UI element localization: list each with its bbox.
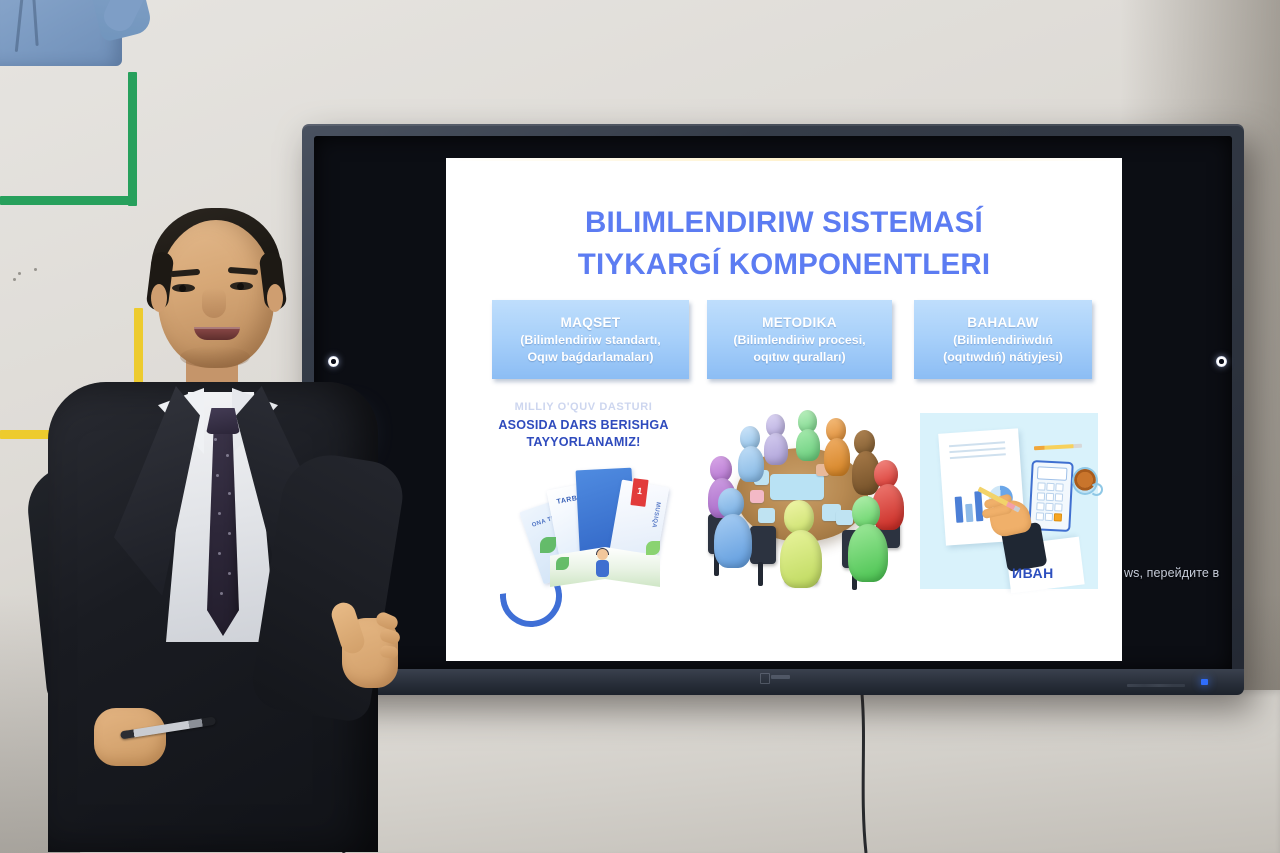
slide-title-line1: BILIMLENDIRIW SISTEMASÍ — [585, 206, 983, 239]
cup-handle — [1090, 483, 1103, 496]
calculator — [1028, 460, 1074, 532]
artwork-textbooks: MILLIY O'QUV DASTURI ASOSIDA DARS BERISH… — [476, 401, 691, 601]
nose — [202, 288, 226, 318]
artwork-overlay-text: ИВАН — [1012, 565, 1054, 581]
component-boxes: MAQSET (Bilimlendiriw standartı, Oqıw ba… — [492, 300, 1092, 382]
textbook-label: MUSIQA — [650, 501, 660, 528]
panel-brand-logo-icon — [760, 673, 790, 683]
leaf-decor — [556, 557, 569, 570]
box-line-2: oqıtıw quralları) — [753, 349, 845, 366]
slide-title: BILIMLENDIRIW SISTEMASÍ TIYKARGÍ KOMPONE… — [446, 202, 1122, 286]
eye-right — [230, 282, 253, 290]
artwork-caption-main: ASOSIDA DARS BERISHGA TAYYORLANAMIZ! — [476, 417, 691, 451]
presenter — [18, 196, 378, 853]
interactive-display[interactable]: BILIMLENDIRIW SISTEMASÍ TIYKARGÍ KOMPONE… — [302, 124, 1244, 694]
eye-left — [172, 284, 195, 292]
artwork-caption-line2: TAYYORLANAMIZ! — [526, 435, 640, 449]
bezel-port-strip — [1127, 684, 1185, 687]
box-line-1: (Bilimlendiriwdıń — [953, 332, 1053, 349]
chair-leg — [758, 562, 763, 586]
box-line-1: (Bilimlendiriw standartı, — [520, 332, 660, 349]
ear-right — [267, 284, 283, 312]
box-line-1: (Bilimlendiriw procesi, — [733, 332, 865, 349]
puzzle-piece — [750, 490, 764, 503]
box-line-2: (oqıtıwdıń) nátiyjesi) — [943, 349, 1063, 366]
power-led-icon — [1201, 679, 1208, 685]
leaf-decor — [646, 541, 660, 555]
calculator-screen — [1037, 466, 1068, 481]
box-heading: BAHALAW — [967, 314, 1039, 331]
box-heading: METODIKA — [762, 314, 837, 331]
textbook-stack: ONA TILI TARBIYA MUSIQA — [528, 463, 678, 587]
box-line-2: Oqıw baǵdarlamaları) — [527, 349, 653, 366]
slide-top-glow — [446, 158, 1122, 161]
chart-bar — [974, 491, 983, 521]
child-figure — [594, 549, 611, 579]
artwork-caption-pre: MILLIY O'QUV DASTURI — [476, 401, 691, 413]
mouth — [194, 327, 240, 340]
component-box-metodika[interactable]: METODIKA (Bilimlendiriw procesi, oqıtıw … — [707, 300, 892, 379]
chart-bar — [955, 496, 964, 522]
artwork-desk-analysis: ИВАН — [912, 405, 1106, 597]
paper-text-lines — [949, 441, 1005, 447]
presenter-right-hand — [336, 598, 410, 694]
display-screen-area[interactable]: BILIMLENDIRIW SISTEMASÍ TIYKARGÍ KOMPONE… — [314, 136, 1232, 672]
artwork-round-table-meeting — [692, 404, 908, 594]
chin-shadow — [180, 346, 250, 368]
leaf-decor — [540, 537, 556, 553]
presenter-left-hand — [88, 698, 180, 774]
puzzle-piece — [836, 510, 853, 525]
puzzle-piece — [770, 474, 824, 500]
chart-bar — [965, 504, 973, 522]
box-heading: MAQSET — [561, 314, 621, 331]
windows-activation-watermark: ws, перейдите в — [1124, 566, 1262, 581]
slide-title-line2: TIYKARGÍ KOMPONENTLERI — [446, 244, 1122, 286]
artwork-caption-line1: ASOSIDA DARS BERISHGA — [498, 418, 668, 432]
presentation-slide[interactable]: BILIMLENDIRIW SISTEMASÍ TIYKARGÍ KOMPONE… — [446, 158, 1122, 661]
wall-paint-green-vertical — [128, 72, 137, 206]
chair — [750, 526, 776, 564]
ir-sensor-right-icon — [1216, 356, 1227, 367]
photo-scene: BILIMLENDIRIW SISTEMASÍ TIYKARGÍ KOMPONE… — [0, 0, 1280, 853]
ear-left — [151, 284, 167, 312]
component-box-bahalaw[interactable]: BAHALAW (Bilimlendiriwdıń (oqıtıwdıń) ná… — [914, 300, 1092, 379]
puzzle-piece — [758, 508, 775, 523]
component-box-maqset[interactable]: MAQSET (Bilimlendiriw standartı, Oqıw ba… — [492, 300, 689, 379]
wall-speck — [13, 278, 16, 281]
tie-knot — [206, 408, 240, 434]
